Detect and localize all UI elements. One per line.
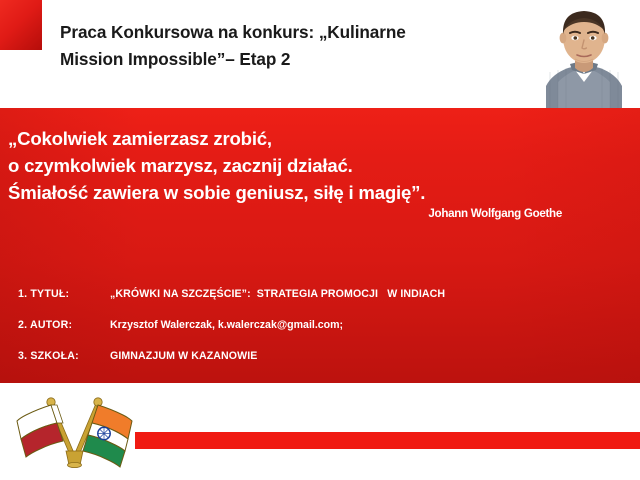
slide-header: Praca Konkursowa na konkurs: „Kulinarne … [0, 0, 640, 108]
portrait-illustration [528, 0, 640, 110]
red-corner-accent [0, 0, 42, 50]
footer-red-bar [135, 432, 640, 449]
list-item: 2. AUTOR: Krzysztof Walerczak, k.walercz… [0, 319, 640, 350]
detail-value-school: GIMNAZJUM W KAZANOWIE [110, 350, 257, 362]
detail-label-title: 1. TYTUŁ: [18, 288, 69, 300]
quote-line-3: Śmiałość zawiera w sobie geniusz, siłę i… [8, 179, 608, 206]
detail-label-school: 3. SZKOŁA: [18, 350, 79, 362]
page-title: Praca Konkursowa na konkurs: „Kulinarne … [60, 19, 480, 73]
page-title-line-1: Praca Konkursowa na konkurs: „Kulinarne [60, 22, 406, 42]
quote-block: „Cokolwiek zamierzasz zrobić, o czymkolw… [8, 125, 608, 206]
list-item: 1. TYTUŁ: „KRÓWKI NA SZCZĘŚCIE”: STRATEG… [0, 288, 640, 319]
detail-value-title: „KRÓWKI NA SZCZĘŚCIE”: STRATEGIA PROMOCJ… [110, 288, 445, 300]
presentation-slide: Praca Konkursowa na konkurs: „Kulinarne … [0, 0, 640, 480]
quote-line-2: o czymkolwiek marzysz, zacznij działać. [8, 152, 608, 179]
red-content-banner: „Cokolwiek zamierzasz zrobić, o czymkolw… [0, 108, 640, 383]
page-title-line-2: Mission Impossible”– Etap 2 [60, 46, 480, 73]
detail-value-author: Krzysztof Walerczak, k.walerczak@gmail.c… [110, 319, 343, 331]
slide-footer [0, 383, 640, 480]
quote-attribution: Johann Wolfgang Goethe [0, 207, 562, 220]
detail-label-author: 2. AUTOR: [18, 319, 72, 331]
entry-details-list: 1. TYTUŁ: „KRÓWKI NA SZCZĘŚCIE”: STRATEG… [0, 288, 640, 381]
list-item: 3. SZKOŁA: GIMNAZJUM W KAZANOWIE [0, 350, 640, 381]
quote-line-1: „Cokolwiek zamierzasz zrobić, [8, 125, 608, 152]
student-portrait-photo [528, 0, 640, 110]
